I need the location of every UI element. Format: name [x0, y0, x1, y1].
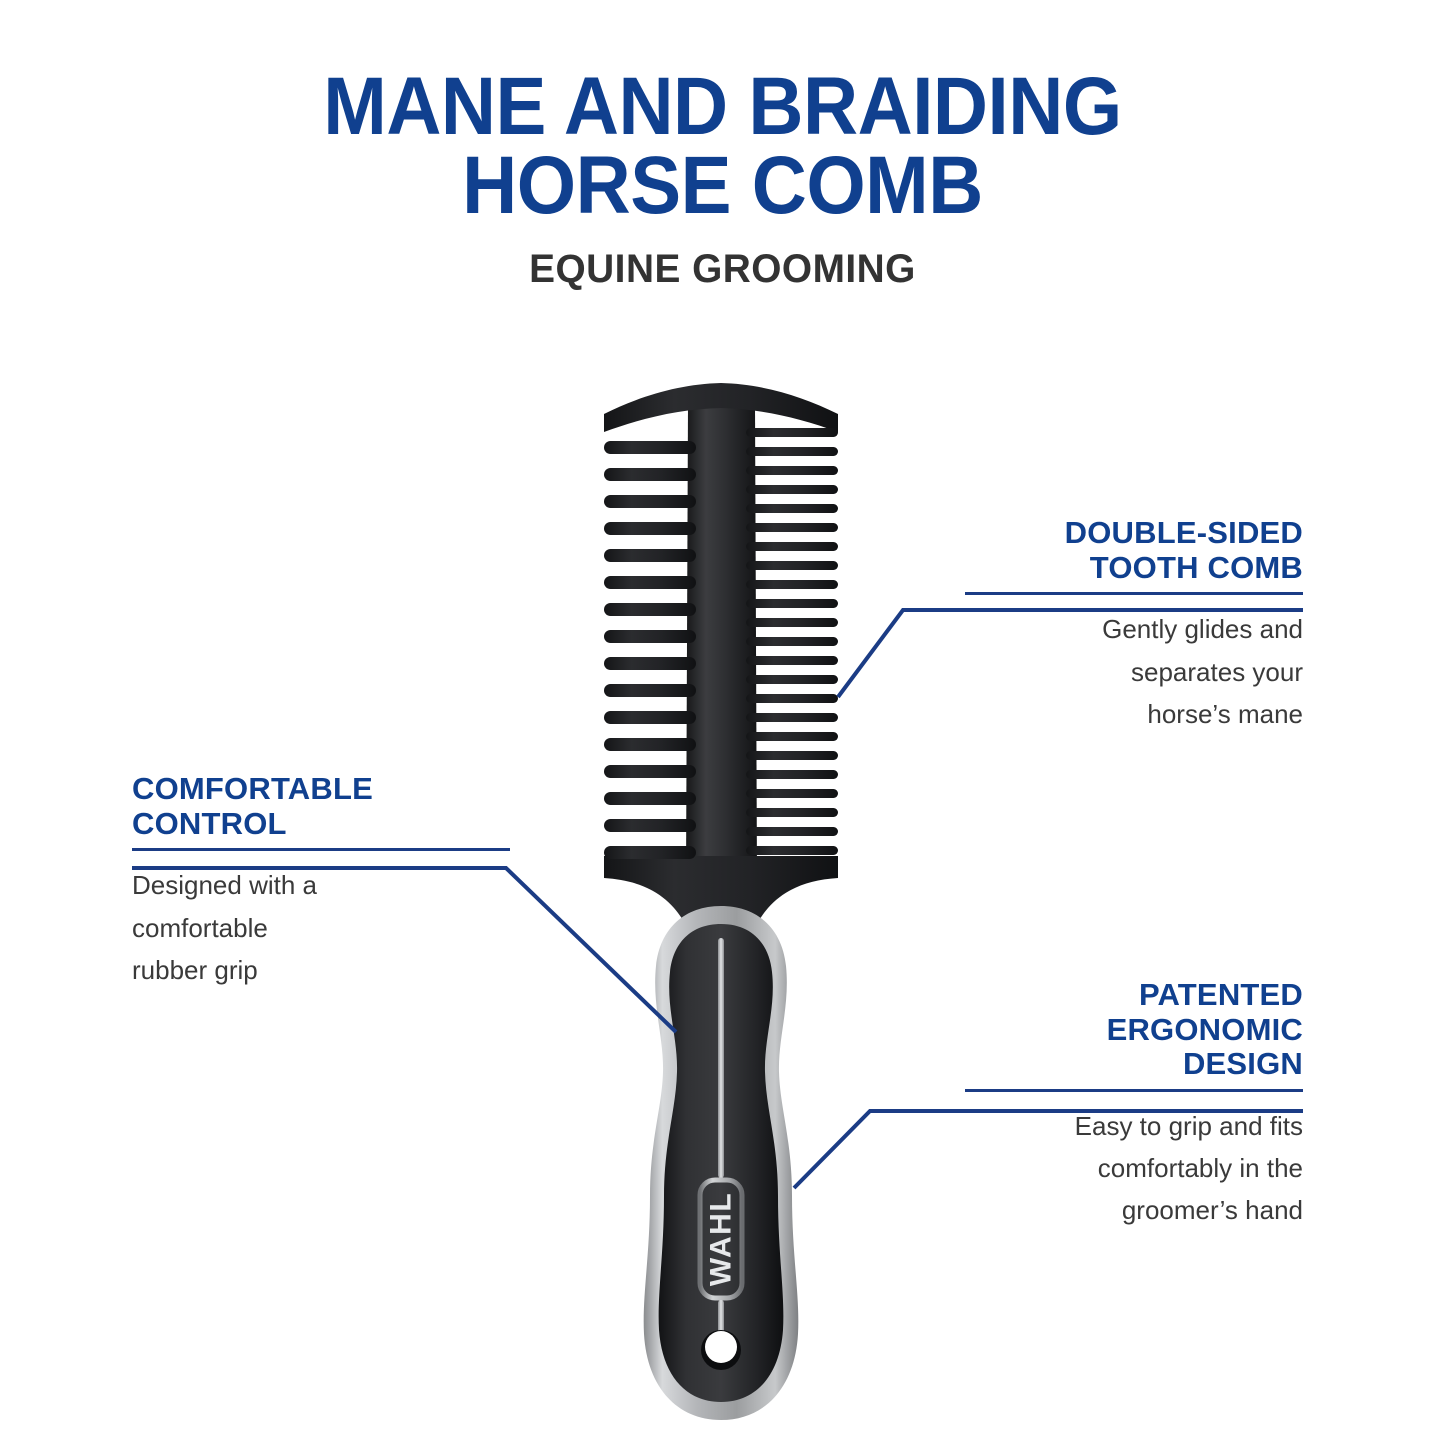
- callout-comfortable-control-heading: COMFORTABLE CONTROL: [132, 772, 510, 841]
- comb-fine-teeth: [746, 428, 838, 855]
- callout-patented-ergonomic-heading: PATENTED ERGONOMIC DESIGN: [965, 978, 1303, 1082]
- comb-handle: WAHL: [644, 906, 799, 1420]
- callout-patented-ergonomic: PATENTED ERGONOMIC DESIGN Easy to grip a…: [965, 978, 1303, 1231]
- callout-double-sided-heading: DOUBLE-SIDED TOOTH COMB: [965, 516, 1303, 585]
- comb-wide-teeth: [604, 441, 696, 859]
- wahl-logo-text: WAHL: [705, 1192, 738, 1286]
- callout-comfortable-control-rule: [132, 848, 510, 851]
- callout-patented-ergonomic-rule: [965, 1089, 1303, 1092]
- callout-double-sided-body: Gently glides and separates your horse’s…: [965, 608, 1303, 734]
- callout-patented-ergonomic-body: Easy to grip and fits comfortably in the…: [965, 1105, 1303, 1231]
- callout-comfortable-control-body: Designed with a comfortable rubber grip: [132, 864, 510, 990]
- handle-stripe-upper: [718, 938, 724, 1178]
- comb-head: [604, 383, 838, 944]
- hanging-hole-icon: [701, 1330, 741, 1370]
- wahl-logo-badge-icon: WAHL: [700, 1180, 742, 1298]
- infographic-canvas: MANE AND BRAIDING HORSE COMB EQUINE GROO…: [0, 0, 1445, 1445]
- callout-double-sided-rule: [965, 592, 1303, 595]
- callout-comfortable-control: COMFORTABLE CONTROL Designed with a comf…: [132, 772, 510, 991]
- callout-double-sided: DOUBLE-SIDED TOOTH COMB Gently glides an…: [965, 516, 1303, 735]
